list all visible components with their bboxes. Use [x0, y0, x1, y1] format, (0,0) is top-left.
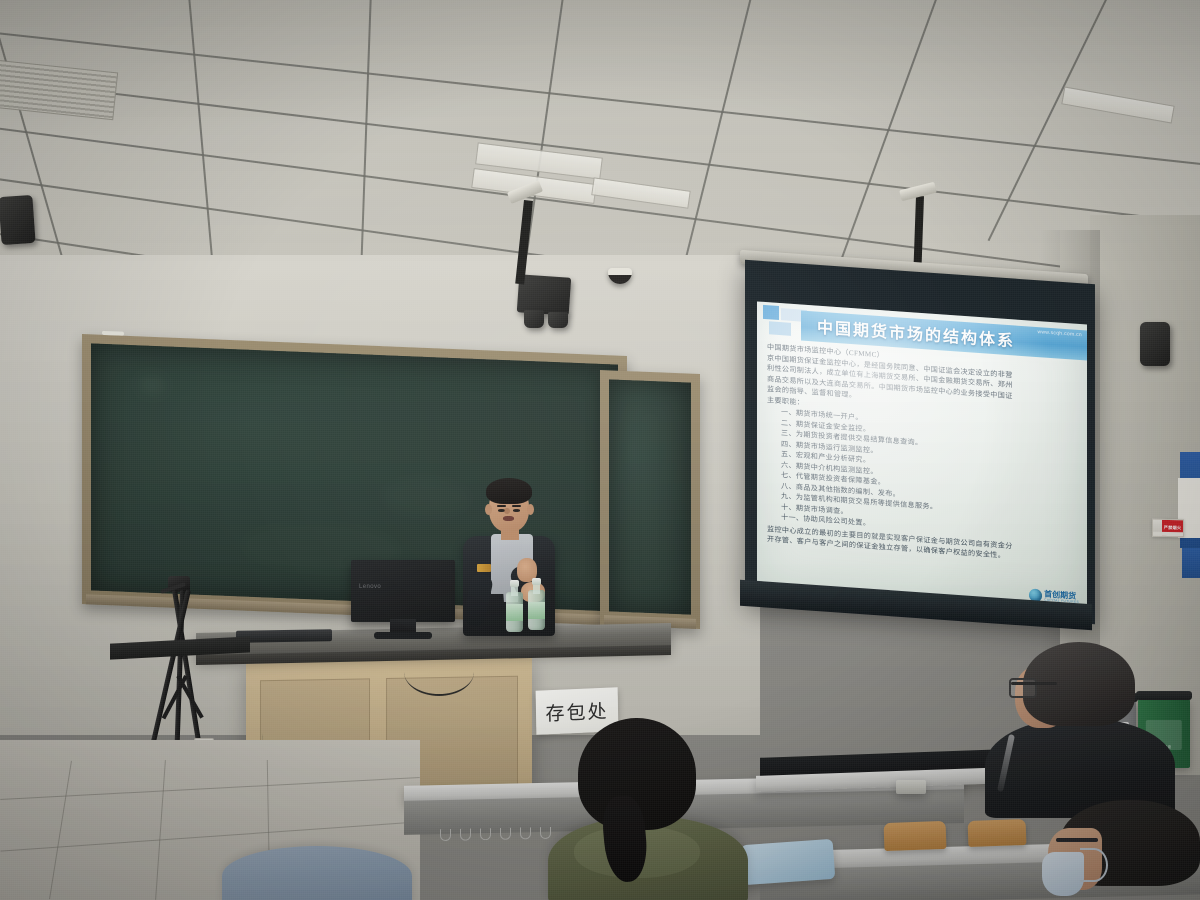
safety-sign-text: 严禁烟火 [1164, 525, 1182, 531]
classroom-chair [968, 819, 1027, 847]
wall-panel-blue-lower [1182, 548, 1200, 578]
wall-speaker-left [0, 195, 36, 245]
computer-monitor: Lenovo [351, 560, 455, 622]
classroom-photo: 严禁烟火 www.scqh.com.cn 中国期货市场的结构 [0, 0, 1200, 900]
water-bottle [506, 580, 523, 632]
water-bottle [528, 578, 545, 630]
presenter-mouth [503, 516, 514, 521]
slide-body: 中国期货市场监控中心（CFMMC） 京中国期货保证金监控中心，是经国务院同意、中… [767, 342, 1081, 566]
slide-list: 一、期货市场统一开户。 二、期货保证金安全监控。 三、为期货投资者提供交易结算信… [767, 406, 1081, 543]
ceiling-speaker-sub [524, 310, 544, 328]
presenter-badge [477, 564, 491, 572]
eyeglasses-temple [1011, 682, 1057, 685]
monitor-base [374, 632, 432, 639]
classroom-chair [884, 821, 947, 851]
chalkboard-right [600, 370, 700, 629]
student-with-face-mask [1030, 800, 1200, 900]
student-foreground-left [222, 846, 412, 900]
keyboard [236, 629, 332, 643]
eyeglasses-icon [1009, 678, 1037, 698]
desk-hooks [440, 827, 551, 841]
monitor-brand-label: Lenovo [359, 584, 381, 590]
safety-sign-subtext [1153, 532, 1183, 537]
presenter-nose [504, 508, 510, 514]
no-fire-safety-sign: 严禁烟火 [1152, 519, 1184, 538]
chalkboard-surface [609, 379, 691, 614]
eyeglasses-icon [1056, 838, 1098, 842]
attendee-with-glasses [985, 638, 1185, 818]
face-mask-ear-loop [1080, 848, 1108, 882]
face-mask-icon [1042, 852, 1084, 896]
power-cable [404, 648, 474, 696]
presentation-slide: www.scqh.com.cn 中国期货市场的结构体系 中国期货市场监控中心（C… [757, 301, 1087, 609]
ceiling-speaker-sub [548, 312, 568, 328]
wall-speaker-right [1140, 322, 1170, 366]
student-ponytail [548, 718, 748, 900]
desk-remote-device [896, 780, 926, 794]
presenter-hair [486, 478, 532, 504]
chalk-stick [102, 331, 124, 336]
desk-item-blue-cloth [741, 839, 836, 885]
